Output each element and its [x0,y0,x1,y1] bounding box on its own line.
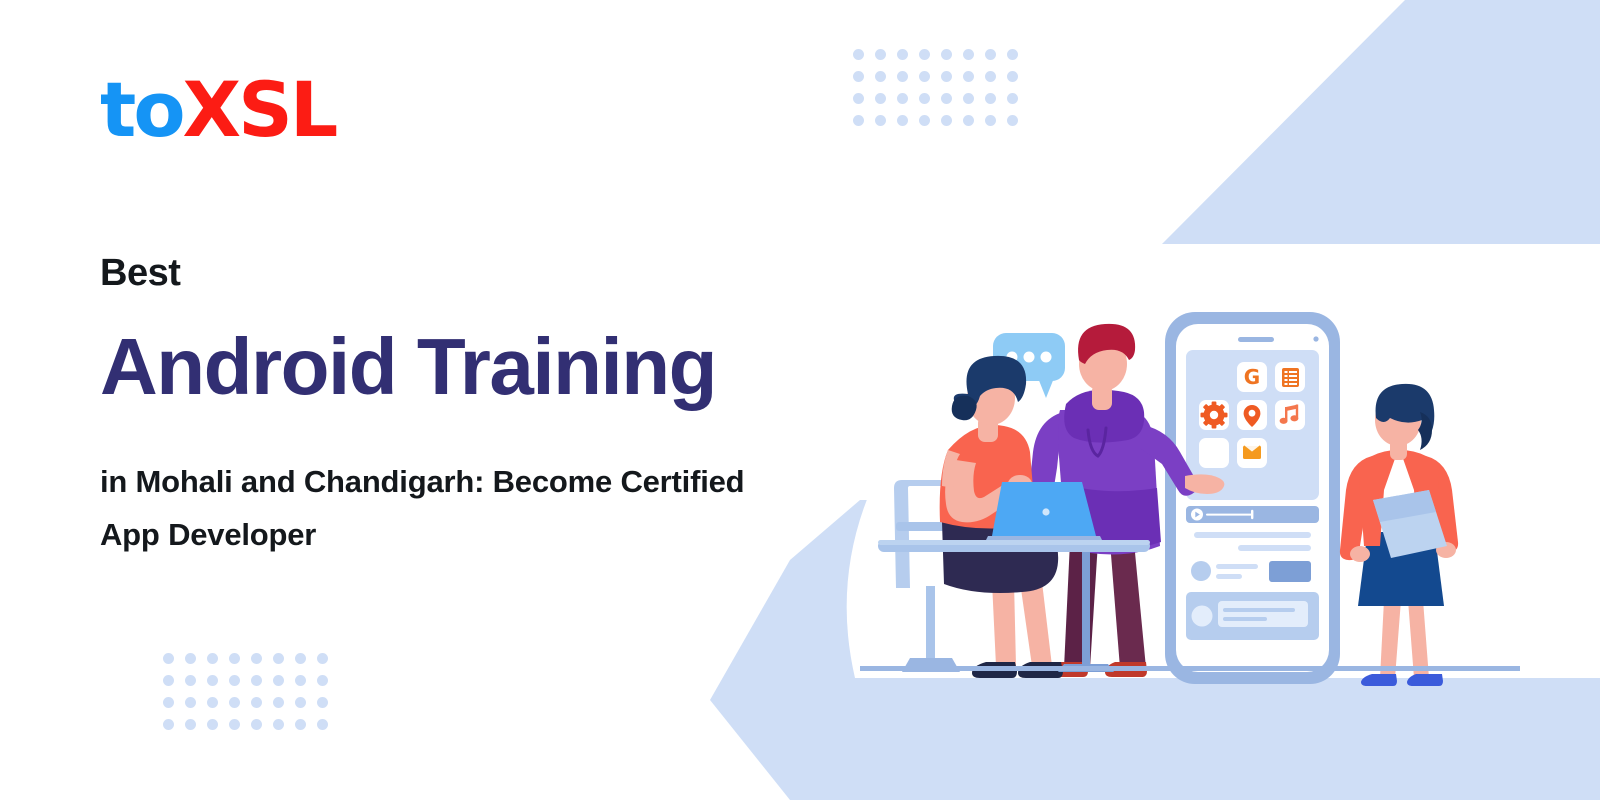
standing-woman-with-folder [1340,384,1458,686]
illustration-svg: G [860,300,1520,700]
video-progress-bar[interactable] [1186,506,1319,523]
toxsl-logo[interactable]: toXSL [100,72,335,148]
hero-headline: Android Training [100,325,716,409]
mail-app-icon[interactable] [1237,438,1267,468]
location-pin-app-icon[interactable] [1237,400,1267,430]
hero-illustration: G [860,300,1520,700]
dot-grid-top-right [848,44,1024,132]
music-note-app-icon[interactable] [1275,400,1305,430]
hero-banner: toXSL Best Android Training in Mohali an… [0,0,1600,800]
comment-card[interactable] [1186,592,1319,640]
settings-gear-app-icon[interactable] [1199,400,1229,430]
hero-subheadline: in Mohali and Chandigarh: Become Certifi… [100,455,760,562]
notes-list-app-icon[interactable] [1275,362,1305,392]
svg-text:G: G [1244,365,1260,389]
dot-grid-bottom-left [158,648,334,736]
hero-eyebrow: Best [100,252,180,295]
logo-text-to: to [100,65,183,154]
logo-text-xsl: XSL [183,65,336,154]
blank-app-icon[interactable] [1199,438,1229,468]
google-app-icon[interactable]: G [1237,362,1267,392]
smartphone-mockup[interactable]: G [1165,312,1340,684]
